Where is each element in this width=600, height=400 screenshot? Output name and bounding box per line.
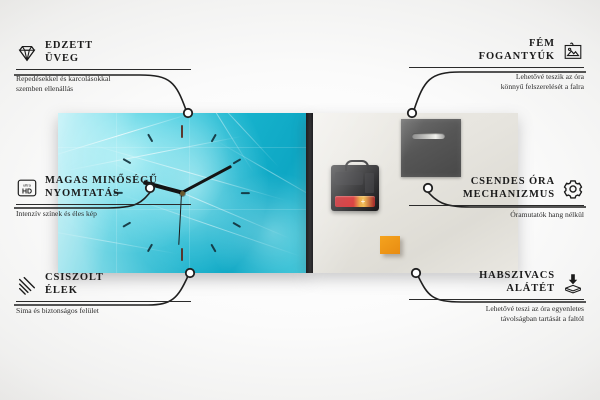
movement-loop — [345, 160, 369, 171]
diamond-icon — [16, 42, 38, 64]
metal-hanger-plate — [401, 119, 461, 177]
svg-text:ultra: ultra — [23, 182, 32, 187]
callout-rule — [16, 301, 191, 302]
callout-title: MAGAS MINŐSÉGŰ NYOMTATÁS — [45, 175, 158, 200]
callout-header: CSISZOLT ÉLEK — [16, 272, 191, 297]
callout-header: FÉM FOGANTYÚK — [409, 38, 584, 63]
foam-pad — [380, 236, 400, 254]
callout-header: CSENDES ÓRA MECHANIZMUS — [409, 176, 584, 201]
callout-subtitle: Lehetővé teszi az óra egyenletes távolsá… — [409, 304, 584, 323]
battery-plus-label: + — [359, 197, 367, 206]
callout-foam-pad: HABSZIVACS ALÁTÉT Lehetővé teszi az óra … — [409, 270, 584, 323]
callout-subtitle: Intenzív színek és éles kép — [16, 209, 191, 219]
battery: + — [335, 196, 375, 207]
callout-metal-handles: FÉM FOGANTYÚK Lehetővé teszik az óra kön… — [409, 38, 584, 91]
callout-title: HABSZIVACS ALÁTÉT — [479, 270, 555, 295]
callout-header: HABSZIVACS ALÁTÉT — [409, 270, 584, 295]
callout-rule — [16, 204, 191, 205]
callout-subtitle: Lehetővé teszik az óra könnyű felszerelé… — [409, 72, 584, 91]
hanger-slot — [412, 133, 445, 139]
callout-subtitle: Sima és biztonságos felület — [16, 306, 191, 316]
callout-title: CSISZOLT ÉLEK — [45, 272, 104, 297]
movement-side — [365, 173, 374, 193]
callout-header: EDZETT ÜVEG — [16, 40, 191, 65]
callout-subtitle: Óramutatók hang nélkül — [409, 210, 584, 220]
callout-polished-edges: CSISZOLT ÉLEK Sima és biztonságos felüle… — [16, 272, 191, 316]
quartz-movement: + — [331, 165, 379, 211]
polished-edges-icon — [16, 274, 38, 296]
movement-body — [335, 172, 363, 185]
gear-icon — [562, 178, 584, 200]
callout-tempered-glass: EDZETT ÜVEG Repedésekkel és karcolásokka… — [16, 40, 191, 93]
svg-text:HD: HD — [22, 188, 32, 195]
callout-high-quality-print: ultra HD MAGAS MINŐSÉGŰ NYOMTATÁS Intenz… — [16, 175, 191, 219]
callout-rule — [409, 67, 584, 68]
foam-pad-icon — [562, 272, 584, 294]
callout-title: FÉM FOGANTYÚK — [479, 38, 555, 63]
callout-rule — [409, 299, 584, 300]
callout-subtitle: Repedésekkel és karcolásokkal szemben el… — [16, 74, 191, 93]
callout-header: ultra HD MAGAS MINŐSÉGŰ NYOMTATÁS — [16, 175, 191, 200]
callout-title: CSENDES ÓRA MECHANIZMUS — [463, 176, 555, 201]
ultra-hd-icon: ultra HD — [16, 177, 38, 199]
callout-rule — [409, 205, 584, 206]
callout-title: EDZETT ÜVEG — [45, 40, 93, 65]
callout-rule — [16, 69, 191, 70]
wall-mount-icon — [562, 40, 584, 62]
glass-edge — [306, 113, 313, 273]
callout-silent-mechanism: CSENDES ÓRA MECHANIZMUS Óramutatók hang … — [409, 176, 584, 220]
